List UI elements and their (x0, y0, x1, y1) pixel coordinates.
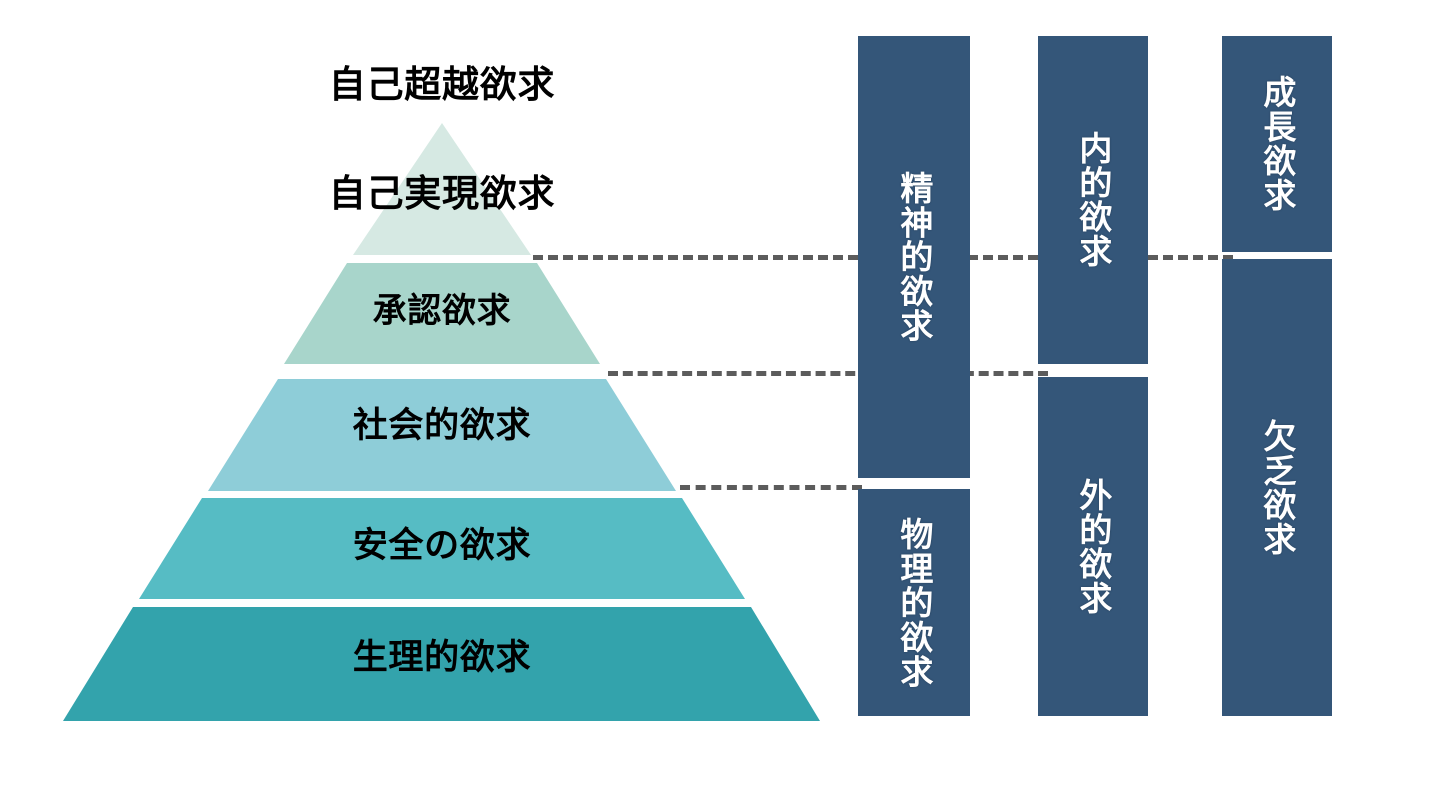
tier-label-safety: 安全の欲求 (0, 529, 884, 564)
tier-label-social: 社会的欲求 (0, 409, 884, 444)
column-segment-label-growth-needs: 成長欲求 (1259, 75, 1295, 212)
column-segment-label-mental-needs: 精神的欲求 (896, 171, 932, 343)
tier-label-self-transcendence: 自己超越欲求 (0, 66, 884, 103)
column-segment-deficiency-needs[interactable]: 欠乏欲求 (1222, 259, 1332, 716)
column-segment-physical-needs[interactable]: 物理的欲求 (858, 489, 970, 716)
tier-label-physiological: 生理的欲求 (0, 641, 884, 676)
diagram-canvas: 自己超越欲求 自己実現欲求 承認欲求 社会的欲求 安全の欲求 生理的欲求 精神的… (0, 0, 1440, 810)
column-segment-label-external-needs: 外的欲求 (1075, 478, 1111, 615)
column-segment-internal-needs[interactable]: 内的欲求 (1038, 36, 1148, 364)
column-segment-growth-needs[interactable]: 成長欲求 (1222, 36, 1332, 252)
column-segment-mental-needs[interactable]: 精神的欲求 (858, 36, 970, 478)
connector-line-social-top (608, 371, 1048, 376)
tier-label-esteem: 承認欲求 (0, 294, 884, 328)
column-segment-label-deficiency-needs: 欠乏欲求 (1259, 419, 1295, 556)
column-segment-external-needs[interactable]: 外的欲求 (1038, 377, 1148, 716)
column-segment-label-physical-needs: 物理的欲求 (896, 517, 932, 689)
tier-label-self-actualization: 自己実現欲求 (0, 175, 884, 212)
column-segment-label-internal-needs: 内的欲求 (1075, 131, 1111, 268)
connector-line-safety-top (680, 485, 862, 490)
